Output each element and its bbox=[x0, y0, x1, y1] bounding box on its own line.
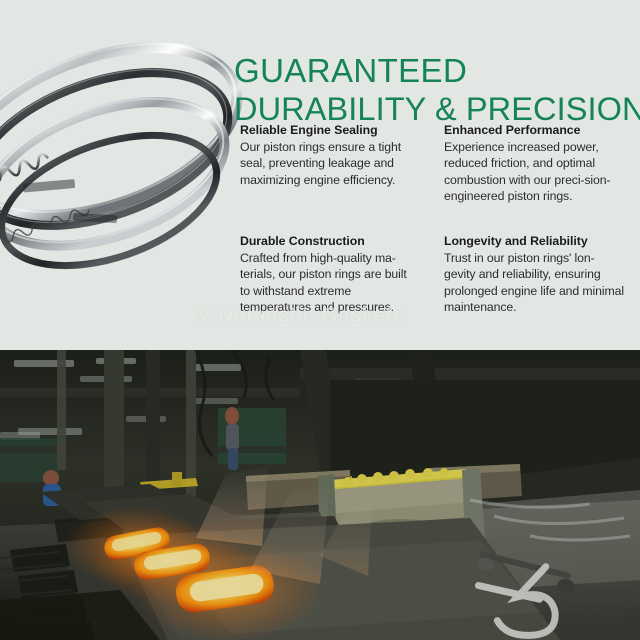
feature-grid: Reliable Engine Sealing Our piston rings… bbox=[240, 122, 628, 315]
feature-title: Reliable Engine Sealing bbox=[240, 122, 444, 138]
headline-line-1: GUARANTEED bbox=[234, 52, 626, 90]
feature-title: Longevity and Reliability bbox=[444, 233, 628, 249]
feature-body: Experience increased power, reduced fric… bbox=[444, 139, 624, 204]
feature-body: Our piston rings ensure a tight seal, pr… bbox=[240, 139, 418, 188]
feature-enhanced-performance: Enhanced Performance Experience increase… bbox=[444, 122, 628, 204]
feature-title: Durable Construction bbox=[240, 233, 444, 249]
feature-body: Trust in our piston rings' lon-gevity an… bbox=[444, 250, 624, 315]
feature-reliable-engine-sealing: Reliable Engine Sealing Our piston rings… bbox=[240, 122, 444, 204]
forge-factory-photo bbox=[0, 350, 640, 640]
factory-scene-svg bbox=[0, 350, 640, 640]
marketing-infographic: GUARANTEED DURABILITY & PRECISION Reliab… bbox=[0, 0, 640, 640]
feature-longevity-and-reliability: Longevity and Reliability Trust in our p… bbox=[444, 233, 628, 315]
feature-body: Crafted from high-quality ma-terials, ou… bbox=[240, 250, 418, 315]
page-title: GUARANTEED DURABILITY & PRECISION bbox=[234, 52, 626, 128]
piston-rings-image bbox=[0, 10, 250, 330]
feature-title: Enhanced Performance bbox=[444, 122, 628, 138]
top-content-panel: GUARANTEED DURABILITY & PRECISION Reliab… bbox=[0, 0, 640, 351]
piston-rings-svg bbox=[0, 10, 250, 330]
feature-durable-construction: Durable Construction Crafted from high-q… bbox=[240, 233, 444, 315]
